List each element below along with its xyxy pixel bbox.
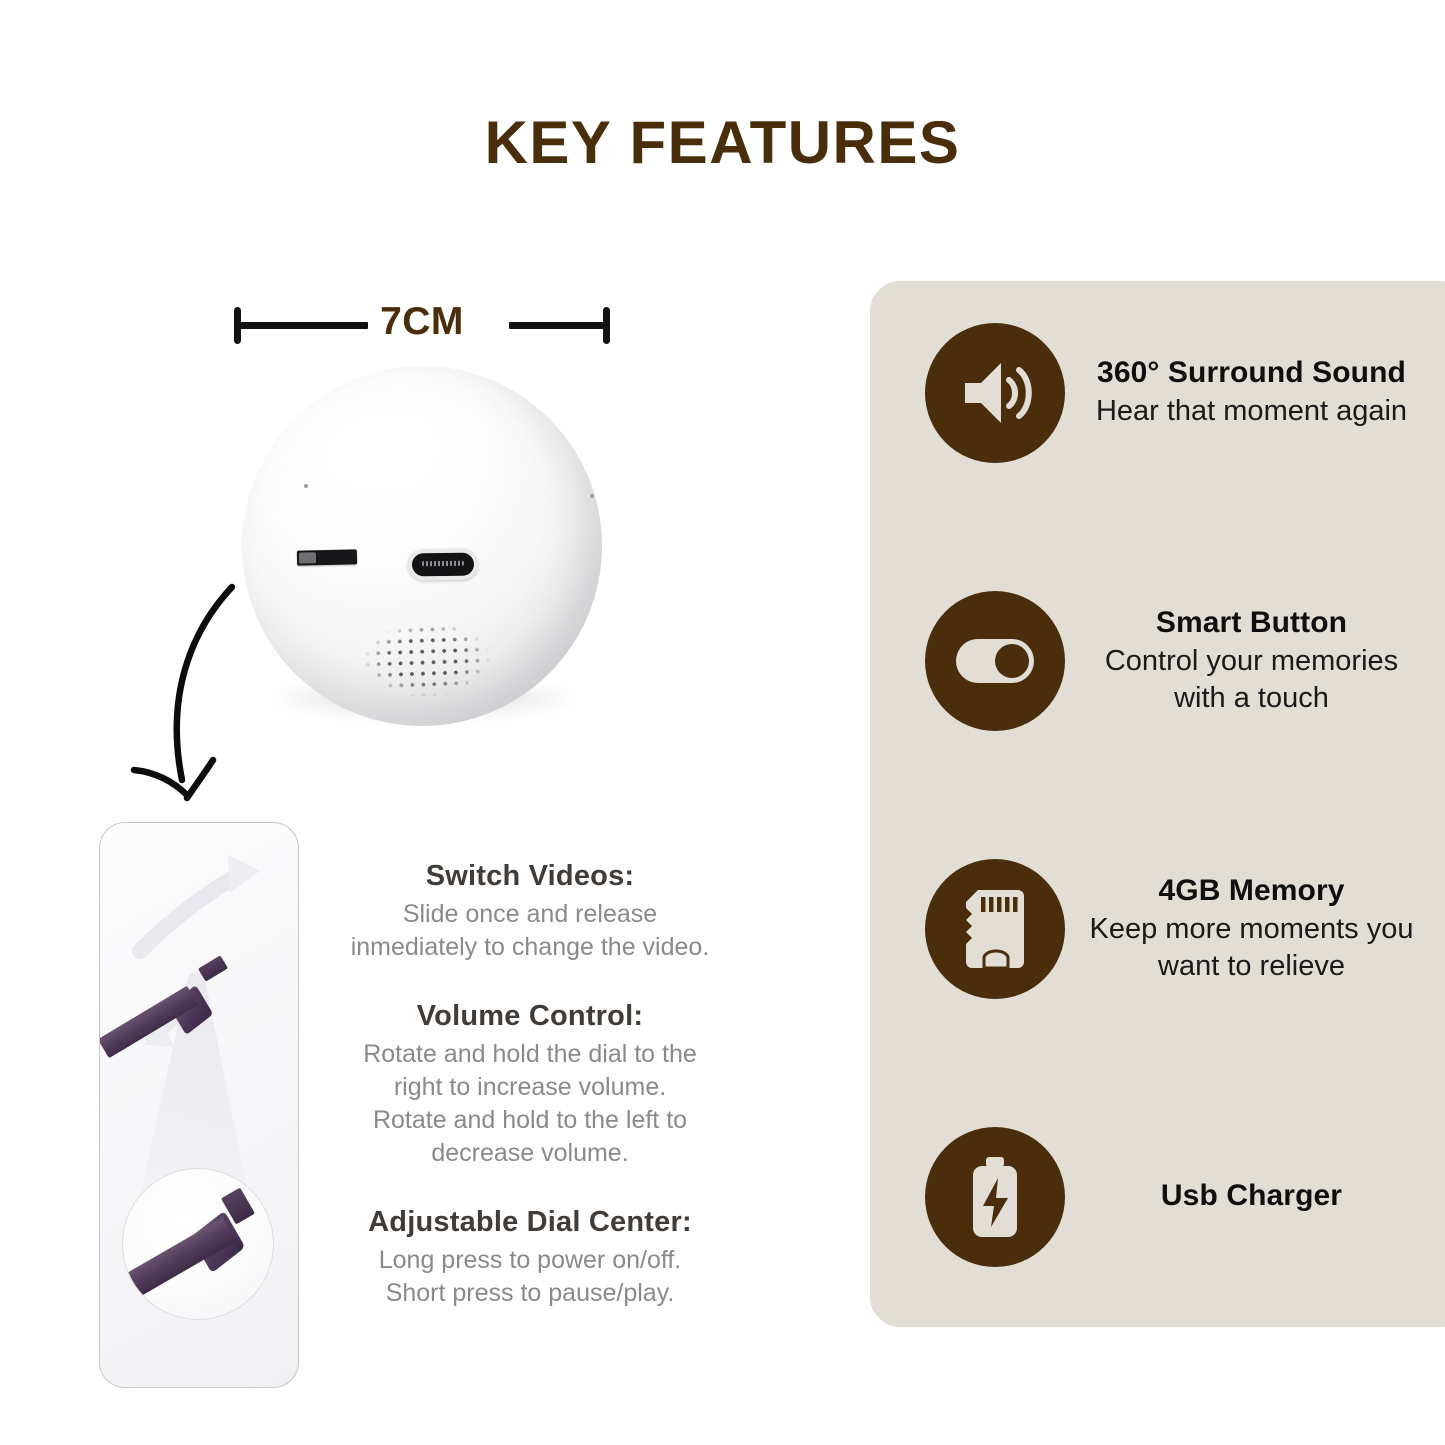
dial-mechanism-photo — [99, 822, 299, 1388]
instruction-line: decrease volume. — [330, 1137, 730, 1170]
instruction-volume-control: Volume Control: Rotate and hold the dial… — [330, 1000, 730, 1171]
feature-text: Smart Button Control your memories with … — [1065, 606, 1430, 716]
dimension-indicator: 7CM — [232, 300, 612, 348]
usb-c-port — [408, 549, 478, 581]
instruction-line: Long press to power on/off. — [330, 1244, 730, 1277]
instruction-line: inmediately to change the video. — [330, 931, 730, 964]
battery-charging-icon — [925, 1127, 1065, 1267]
feature-panel: 360° Surround Sound Hear that moment aga… — [870, 281, 1445, 1327]
instruction-title: Switch Videos: — [330, 860, 730, 893]
feature-title: Usb Charger — [1079, 1179, 1424, 1213]
speaker-volume-glyph — [955, 356, 1035, 430]
dimension-cap-right — [603, 307, 610, 344]
instruction-body: Rotate and hold the dial to the right to… — [330, 1038, 730, 1171]
feature-subtitle: Hear that moment again — [1079, 393, 1424, 429]
dimension-line-right — [509, 322, 604, 329]
microphone-pinhole-right — [590, 494, 594, 498]
feature-text: Usb Charger — [1065, 1179, 1430, 1216]
magnifier-circle — [122, 1168, 274, 1320]
instruction-line: Slide once and release — [330, 898, 730, 931]
battery-charging-glyph — [967, 1155, 1023, 1239]
infographic-page: KEY FEATURES 7CM — [0, 0, 1445, 1445]
instruction-list: Switch Videos: Slide once and release in… — [330, 860, 730, 1310]
feature-item-memory: 4GB Memory Keep more moments you want to… — [870, 859, 1430, 999]
feature-text: 360° Surround Sound Hear that moment aga… — [1065, 356, 1430, 429]
feature-subtitle: Control your memories with a touch — [1079, 643, 1424, 716]
instruction-line: Rotate and hold to the left to — [330, 1104, 730, 1137]
instruction-title: Adjustable Dial Center: — [330, 1206, 730, 1239]
feature-subtitle-line: Keep more moments you — [1079, 911, 1424, 947]
feature-item-usb-charger: Usb Charger — [870, 1127, 1430, 1267]
instruction-title: Volume Control: — [330, 1000, 730, 1033]
page-title: KEY FEATURES — [0, 108, 1445, 177]
speaker-grille — [361, 622, 494, 700]
instruction-line: Short press to pause/play. — [330, 1277, 730, 1310]
microphone-pinhole-left — [304, 484, 308, 488]
toggle-switch-glyph — [952, 635, 1038, 687]
feature-item-smart-button: Smart Button Control your memories with … — [870, 591, 1430, 731]
instruction-line: right to increase volume. — [330, 1071, 730, 1104]
instruction-adjustable-dial-center: Adjustable Dial Center: Long press to po… — [330, 1206, 730, 1311]
feature-title: 4GB Memory — [1079, 874, 1424, 908]
feature-subtitle-line: Hear that moment again — [1079, 393, 1424, 429]
toggle-switch-icon — [925, 591, 1065, 731]
feature-subtitle-line: with a touch — [1079, 680, 1424, 716]
feature-subtitle-line: Control your memories — [1079, 643, 1424, 679]
feature-subtitle: Keep more moments you want to relieve — [1079, 911, 1424, 984]
speaker-volume-icon — [925, 323, 1065, 463]
instruction-line: Rotate and hold the dial to the — [330, 1038, 730, 1071]
feature-title: 360° Surround Sound — [1079, 356, 1424, 390]
feature-title: Smart Button — [1079, 606, 1424, 640]
feature-subtitle-line: want to relieve — [1079, 948, 1424, 984]
sd-card-icon — [925, 859, 1065, 999]
instruction-switch-videos: Switch Videos: Slide once and release in… — [330, 860, 730, 965]
feature-item-surround-sound: 360° Surround Sound Hear that moment aga… — [870, 323, 1430, 463]
sphere-highlight — [314, 406, 484, 526]
instruction-body: Long press to power on/off. Short press … — [330, 1244, 730, 1311]
curved-down-arrow-icon — [110, 572, 300, 812]
slide-switch — [297, 549, 357, 565]
feature-text: 4GB Memory Keep more moments you want to… — [1065, 874, 1430, 984]
sd-card-glyph — [964, 888, 1026, 970]
instruction-body: Slide once and release inmediately to ch… — [330, 898, 730, 965]
